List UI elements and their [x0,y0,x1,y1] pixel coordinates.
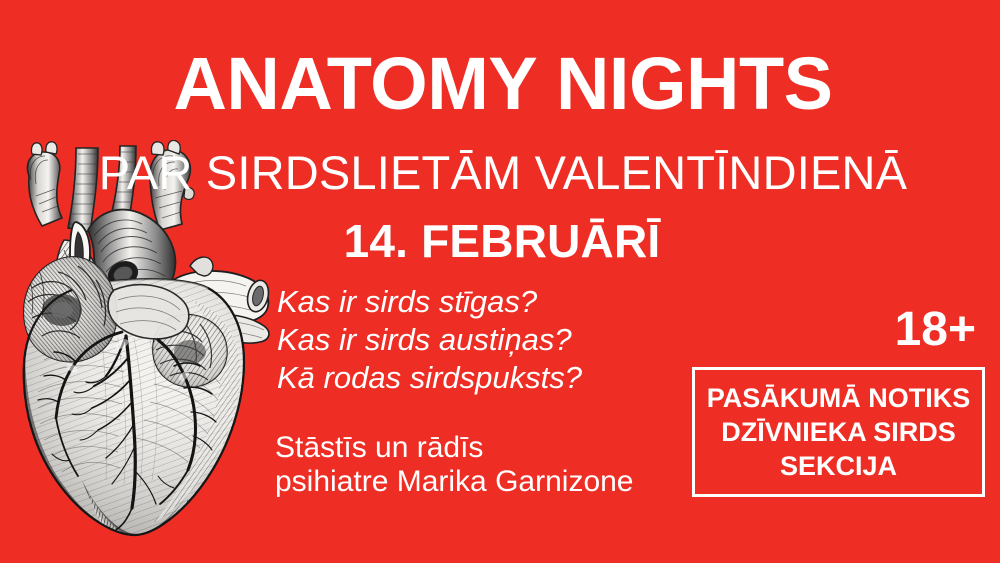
question-line: Kā rodas sirdspuksts? [277,359,697,397]
presenter-name: psihiatre Marika Garnizone [275,465,705,499]
questions-block: Kas ir sirds stīgas? Kas ir sirds austiņ… [277,283,697,397]
headline-block: ANATOMY NIGHTS PAR SIRDSLIETĀM VALENTĪND… [0,0,1000,264]
age-rating-badge: 18+ [895,306,976,354]
event-date: 14. FEBRUĀRĪ [0,196,1000,264]
question-line: Kas ir sirds austiņas? [277,321,697,359]
poster-canvas: ANATOMY NIGHTS PAR SIRDSLIETĀM VALENTĪND… [0,0,1000,563]
page-title: ANATOMY NIGHTS [0,0,1000,121]
notice-box: PASĀKUMĀ NOTIKS DZĪVNIEKA SIRDS SEKCIJA [692,367,985,497]
notice-line: PASĀKUMĀ NOTIKS [707,381,971,415]
poster-subtitle: PAR SIRDSLIETĀM VALENTĪNDIENĀ [0,121,1000,196]
presenter-block: Stāstīs un rādīs psihiatre Marika Garniz… [275,431,705,499]
presenter-intro: Stāstīs un rādīs [275,431,705,465]
notice-line: DZĪVNIEKA SIRDS [721,415,956,449]
question-line: Kas ir sirds stīgas? [277,283,697,321]
notice-line: SEKCIJA [780,449,897,483]
